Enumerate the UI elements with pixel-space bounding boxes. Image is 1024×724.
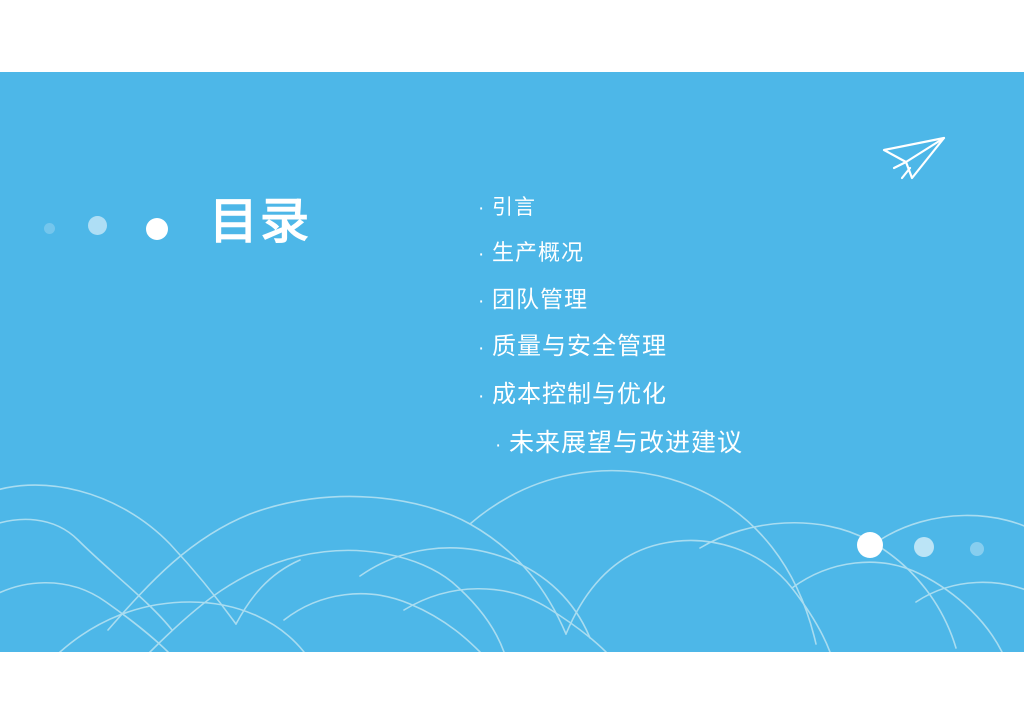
decorative-dot-small (970, 542, 984, 556)
title-block: 目录 (0, 132, 520, 212)
toc-bullet-icon: · (478, 199, 492, 218)
toc-bullet-icon: · (478, 292, 492, 311)
slide-frame: 目录 · 引言 · 生产概况 · 团队管理 (0, 0, 1024, 724)
toc-bullet-icon: · (495, 436, 509, 455)
toc-bullet-icon: · (478, 245, 492, 264)
toc-bullet-icon: · (478, 387, 492, 406)
toc-item-label: 生产概况 (492, 242, 584, 264)
decorative-dot-large (857, 532, 883, 558)
toc-item-label: 团队管理 (492, 288, 588, 311)
toc-item-label: 成本控制与优化 (492, 383, 667, 407)
toc-item-4[interactable]: · 成本控制与优化 (478, 383, 998, 407)
toc-item-2[interactable]: · 团队管理 (478, 288, 998, 311)
decorative-dot-large (146, 218, 168, 240)
paper-plane-icon (880, 134, 950, 188)
slide-canvas: 目录 · 引言 · 生产概况 · 团队管理 (0, 72, 1024, 652)
decorative-dot-medium (914, 537, 934, 557)
toc-item-5[interactable]: · 未来展望与改进建议 (495, 431, 998, 456)
toc-item-label: 质量与安全管理 (492, 335, 667, 359)
toc-item-label: 引言 (492, 197, 536, 218)
decorative-dot-medium (88, 216, 107, 235)
toc-item-3[interactable]: · 质量与安全管理 (478, 335, 998, 359)
toc-bullet-icon: · (478, 339, 492, 358)
toc-item-0[interactable]: · 引言 (478, 197, 998, 218)
toc-list: · 引言 · 生产概况 · 团队管理 · 质量与安全管理 · 成本控制与优化 · (478, 197, 998, 480)
decorative-dot-small (44, 223, 55, 234)
toc-item-label: 未来展望与改进建议 (509, 431, 743, 456)
page-title: 目录 (209, 198, 311, 247)
toc-item-1[interactable]: · 生产概况 (478, 242, 998, 264)
